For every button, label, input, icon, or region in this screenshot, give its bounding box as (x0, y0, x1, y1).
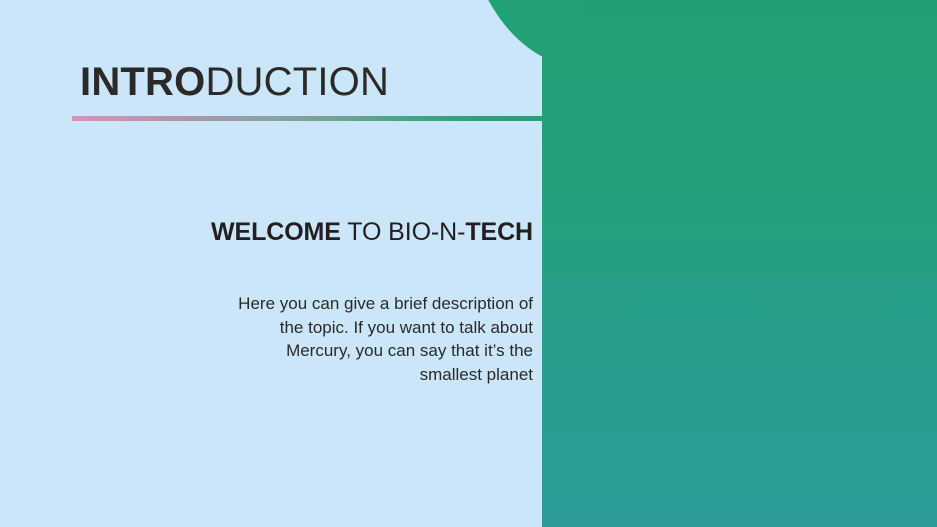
page-title: INTRODUCTION (80, 58, 550, 106)
page-title-light-segment: DUCTION (205, 60, 389, 104)
subtitle-bold-segment-1: WELCOME (211, 218, 341, 246)
green-rounded-blob-decoration (460, 0, 580, 66)
slide-canvas: INTRODUCTION WELCOME TO BIO-N-TECH Here … (0, 0, 937, 527)
page-title-bold-segment: INTRO (80, 60, 205, 104)
subtitle: WELCOME TO BIO-N-TECH (120, 216, 533, 248)
green-side-panel (542, 0, 937, 527)
content-block: WELCOME TO BIO-N-TECH Here you can give … (120, 216, 533, 386)
subtitle-bold-segment-2: TECH (465, 218, 533, 246)
subtitle-light-segment: TO BIO-N- (341, 218, 465, 246)
body-paragraph: Here you can give a brief description of… (233, 248, 533, 386)
title-underline-gradient-rule (72, 116, 542, 121)
title-block: INTRODUCTION (80, 58, 550, 106)
